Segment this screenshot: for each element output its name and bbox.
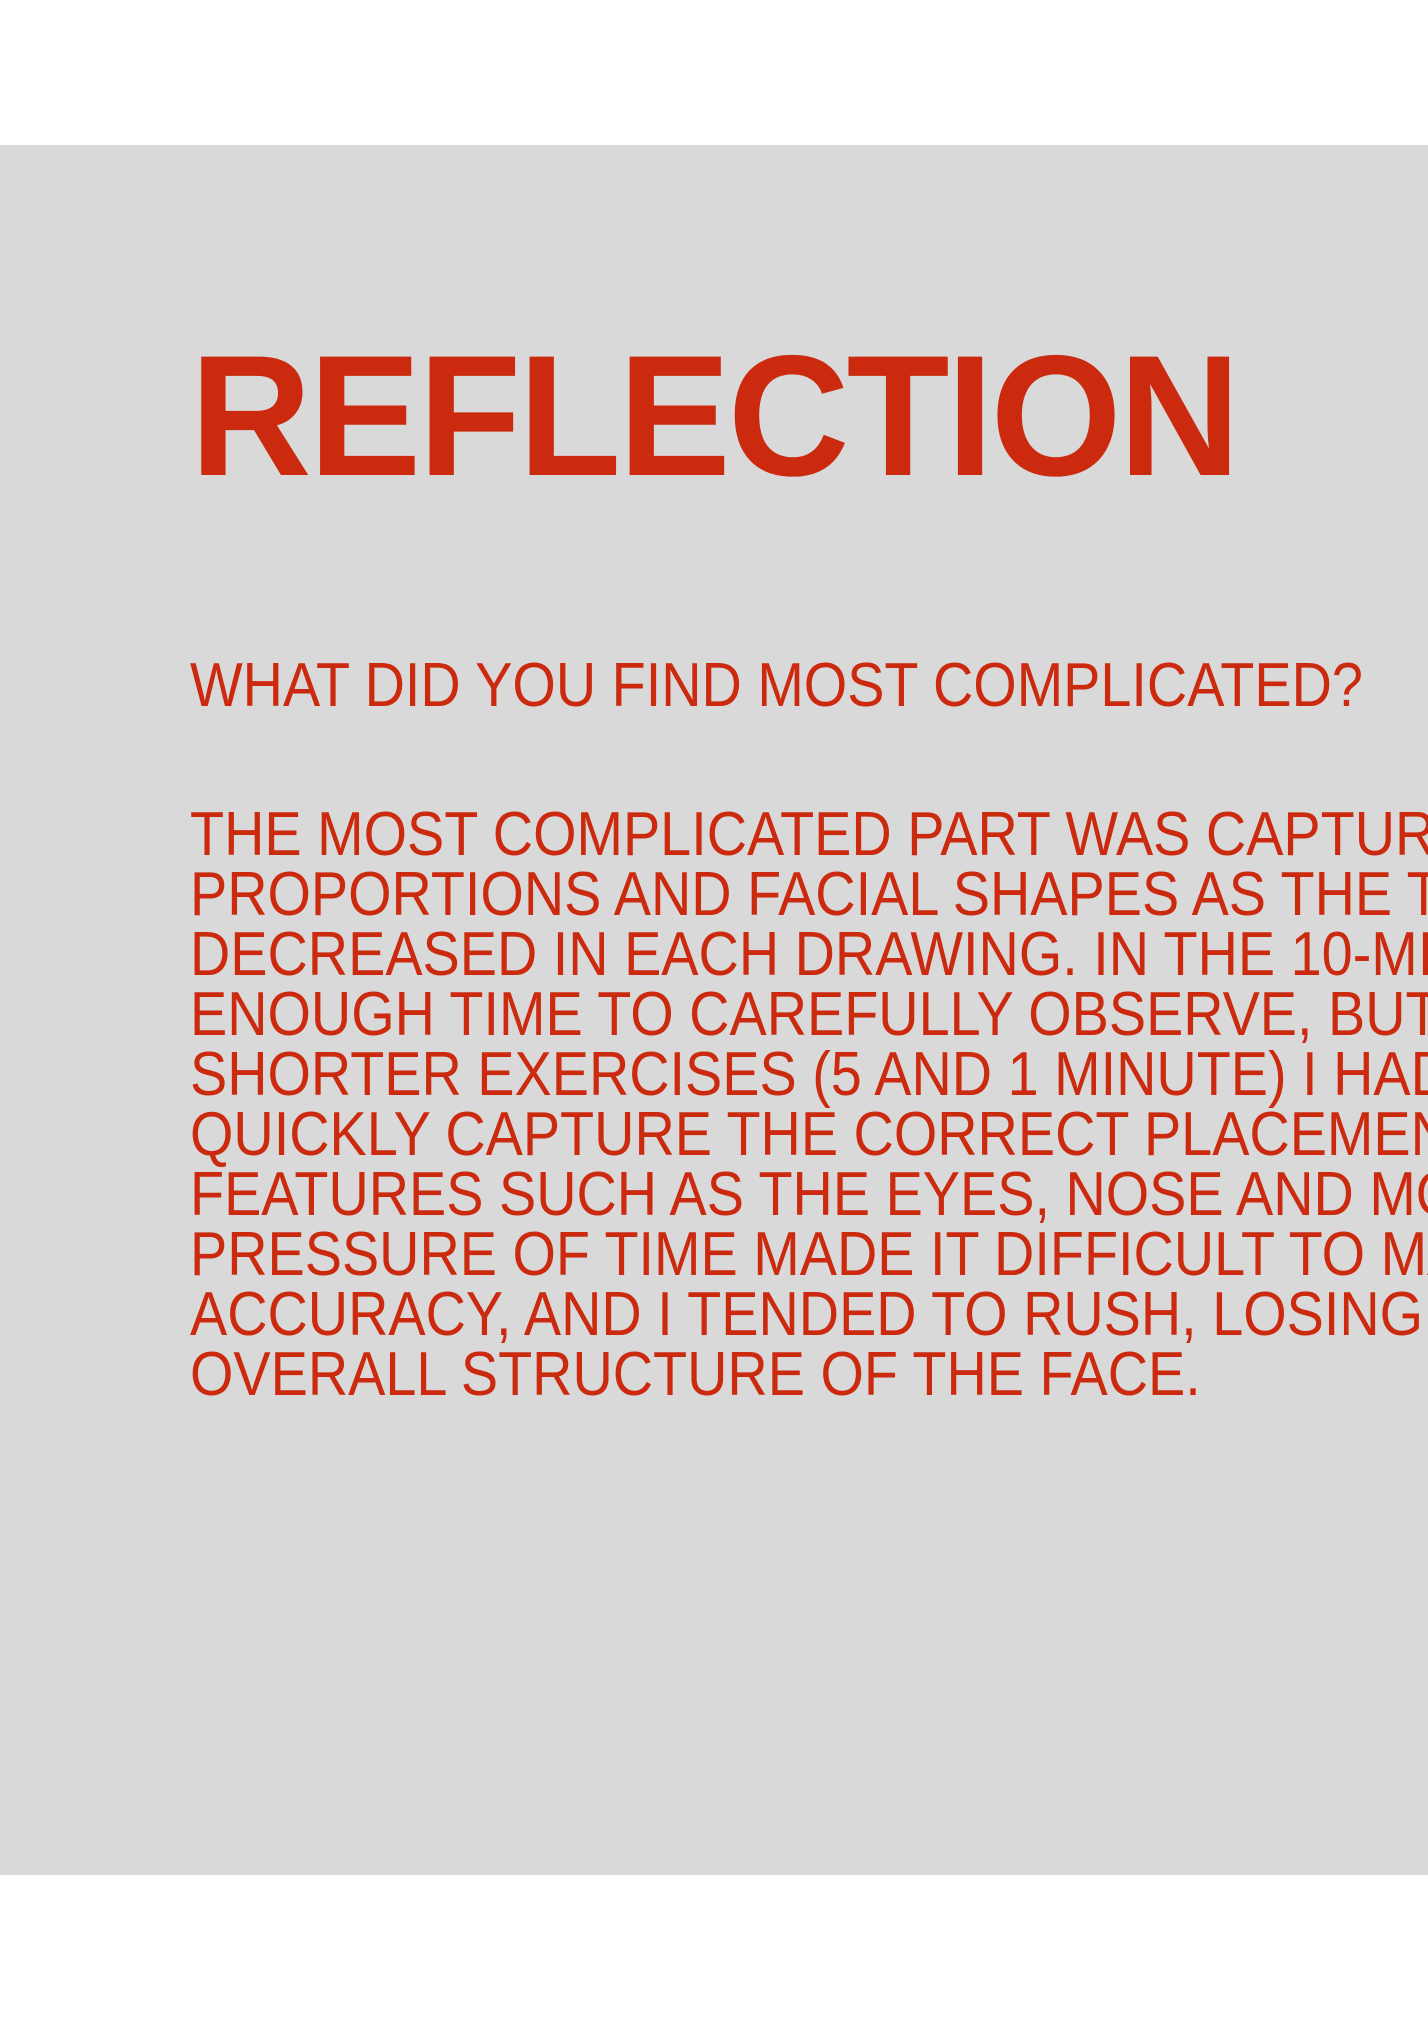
body-line: QUICKLY CAPTURE THE CORRECT PLACEMENT OF — [190, 1105, 1428, 1165]
page-title: REFLECTION — [190, 335, 1237, 498]
body-line: PROPORTIONS AND FACIAL SHAPES AS THE TIM… — [190, 865, 1428, 925]
content-panel: REFLECTION WHAT DID YOU FIND MOST COMPLI… — [0, 145, 1428, 1875]
body-line: FEATURES SUCH AS THE EYES, NOSE AND MOUT… — [190, 1165, 1428, 1225]
body-line: SHORTER EXERCISES (5 AND 1 MINUTE) I HAD… — [190, 1045, 1428, 1105]
body-line: DECREASED IN EACH DRAWING. IN THE 10-MIN… — [190, 925, 1428, 985]
body-line: PRESSURE OF TIME MADE IT DIFFICULT TO MA… — [190, 1225, 1428, 1285]
reflection-answer: THE MOST COMPLICATED PART WAS CAPTURING … — [190, 805, 1428, 1405]
body-line: ACCURACY, AND I TENDED TO RUSH, LOSING T… — [190, 1285, 1428, 1345]
content-block: REFLECTION WHAT DID YOU FIND MOST COMPLI… — [190, 145, 1428, 1875]
reflection-slide: REFLECTION WHAT DID YOU FIND MOST COMPLI… — [0, 0, 1428, 2018]
reflection-question: WHAT DID YOU FIND MOST COMPLICATED? — [190, 655, 1363, 717]
body-line: THE MOST COMPLICATED PART WAS CAPTURING … — [190, 805, 1428, 865]
body-line: OVERALL STRUCTURE OF THE FACE. — [190, 1345, 1428, 1405]
body-line: ENOUGH TIME TO CAREFULLY OBSERVE, BUT IN… — [190, 985, 1428, 1045]
